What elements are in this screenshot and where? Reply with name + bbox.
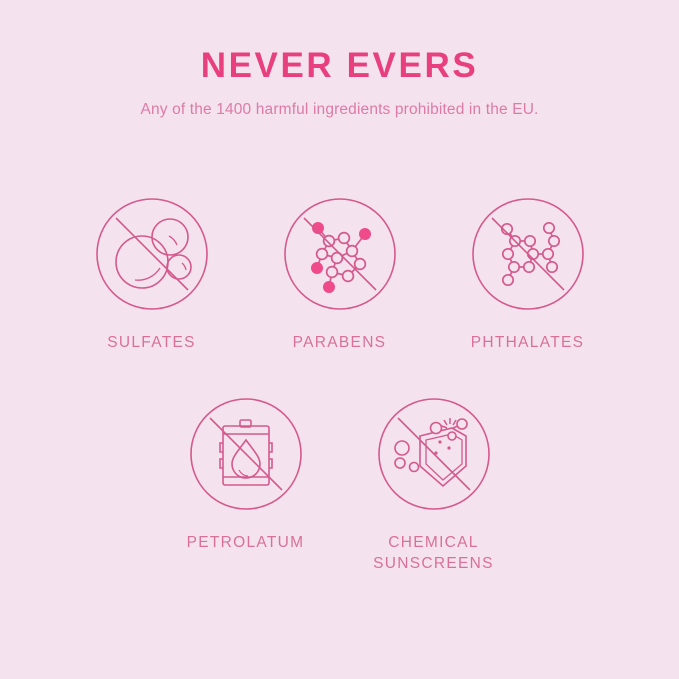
no-sulfates-bubbles-icon xyxy=(94,196,210,312)
never-evers-poster: NEVER EVERS Any of the 1400 harmful ingr… xyxy=(0,0,679,679)
item-label: PARABENS xyxy=(293,332,387,353)
item-phthalates: PHTHALATES xyxy=(434,196,622,353)
item-label: PETROLATUM xyxy=(187,532,305,553)
poster-header: NEVER EVERS Any of the 1400 harmful ingr… xyxy=(0,0,679,120)
icon-row-top: SULFATES xyxy=(0,196,679,353)
no-phthalates-molecule-icon xyxy=(470,196,586,312)
item-sulfates: SULFATES xyxy=(58,196,246,353)
item-label: PHTHALATES xyxy=(471,332,585,353)
icon-row-bottom: PETROLATUM xyxy=(0,396,679,574)
no-chemical-sunscreen-icon xyxy=(376,396,492,512)
page-subtitle: Any of the 1400 harmful ingredients proh… xyxy=(0,100,679,120)
item-chemical-sunscreens: CHEMICAL SUNSCREENS xyxy=(340,396,528,574)
no-petrolatum-barrel-icon xyxy=(188,396,304,512)
item-label: CHEMICAL SUNSCREENS xyxy=(373,532,494,574)
item-label: SULFATES xyxy=(107,332,196,353)
no-parabens-molecule-icon xyxy=(282,196,398,312)
page-title: NEVER EVERS xyxy=(0,44,679,88)
item-petrolatum: PETROLATUM xyxy=(152,396,340,574)
item-parabens: PARABENS xyxy=(246,196,434,353)
